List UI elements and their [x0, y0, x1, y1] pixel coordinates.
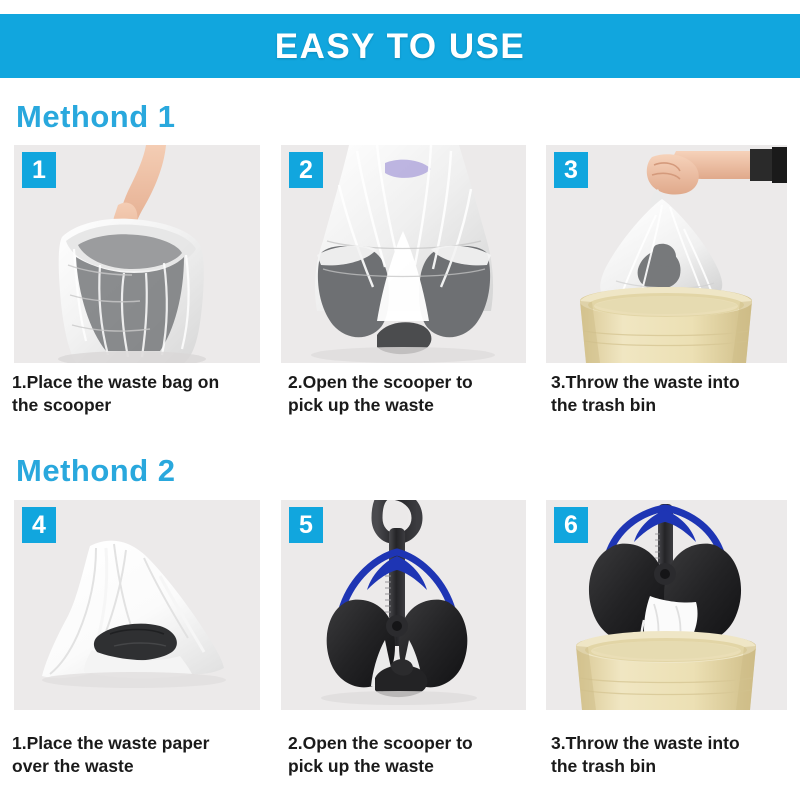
banner-title: EASY TO USE [275, 29, 526, 64]
method-2-heading: Methond 2 [16, 455, 176, 486]
step-panel-5: 5 [281, 500, 526, 710]
step-badge-2: 2 [289, 152, 323, 188]
step-badge-1: 1 [22, 152, 56, 188]
step-caption-3: 3.Throw the waste into the trash bin [551, 371, 795, 417]
step-caption-6: 3.Throw the waste into the trash bin [551, 732, 795, 778]
step-badge-5: 5 [289, 507, 323, 543]
step-panel-4: 4 [14, 500, 260, 710]
step-caption-1: 1.Place the waste bag on the scooper [12, 371, 270, 417]
step-badge-4: 4 [22, 507, 56, 543]
header-banner: EASY TO USE [0, 14, 800, 78]
easy-to-use-infographic: EASY TO USE Methond 1 1 [0, 0, 800, 800]
step-panel-6: 6 [546, 500, 787, 710]
step-caption-4: 1.Place the waste paper over the waste [12, 732, 270, 778]
step-panel-2: 2 [281, 145, 526, 363]
step-caption-2: 2.Open the scooper to pick up the waste [288, 371, 538, 417]
step-badge-3: 3 [554, 152, 588, 188]
step-badge-6: 6 [554, 507, 588, 543]
step-panel-3: 3 [546, 145, 787, 363]
step-panel-1: 1 [14, 145, 260, 363]
step-caption-5: 2.Open the scooper to pick up the waste [288, 732, 538, 778]
method-1-heading: Methond 1 [16, 101, 176, 132]
